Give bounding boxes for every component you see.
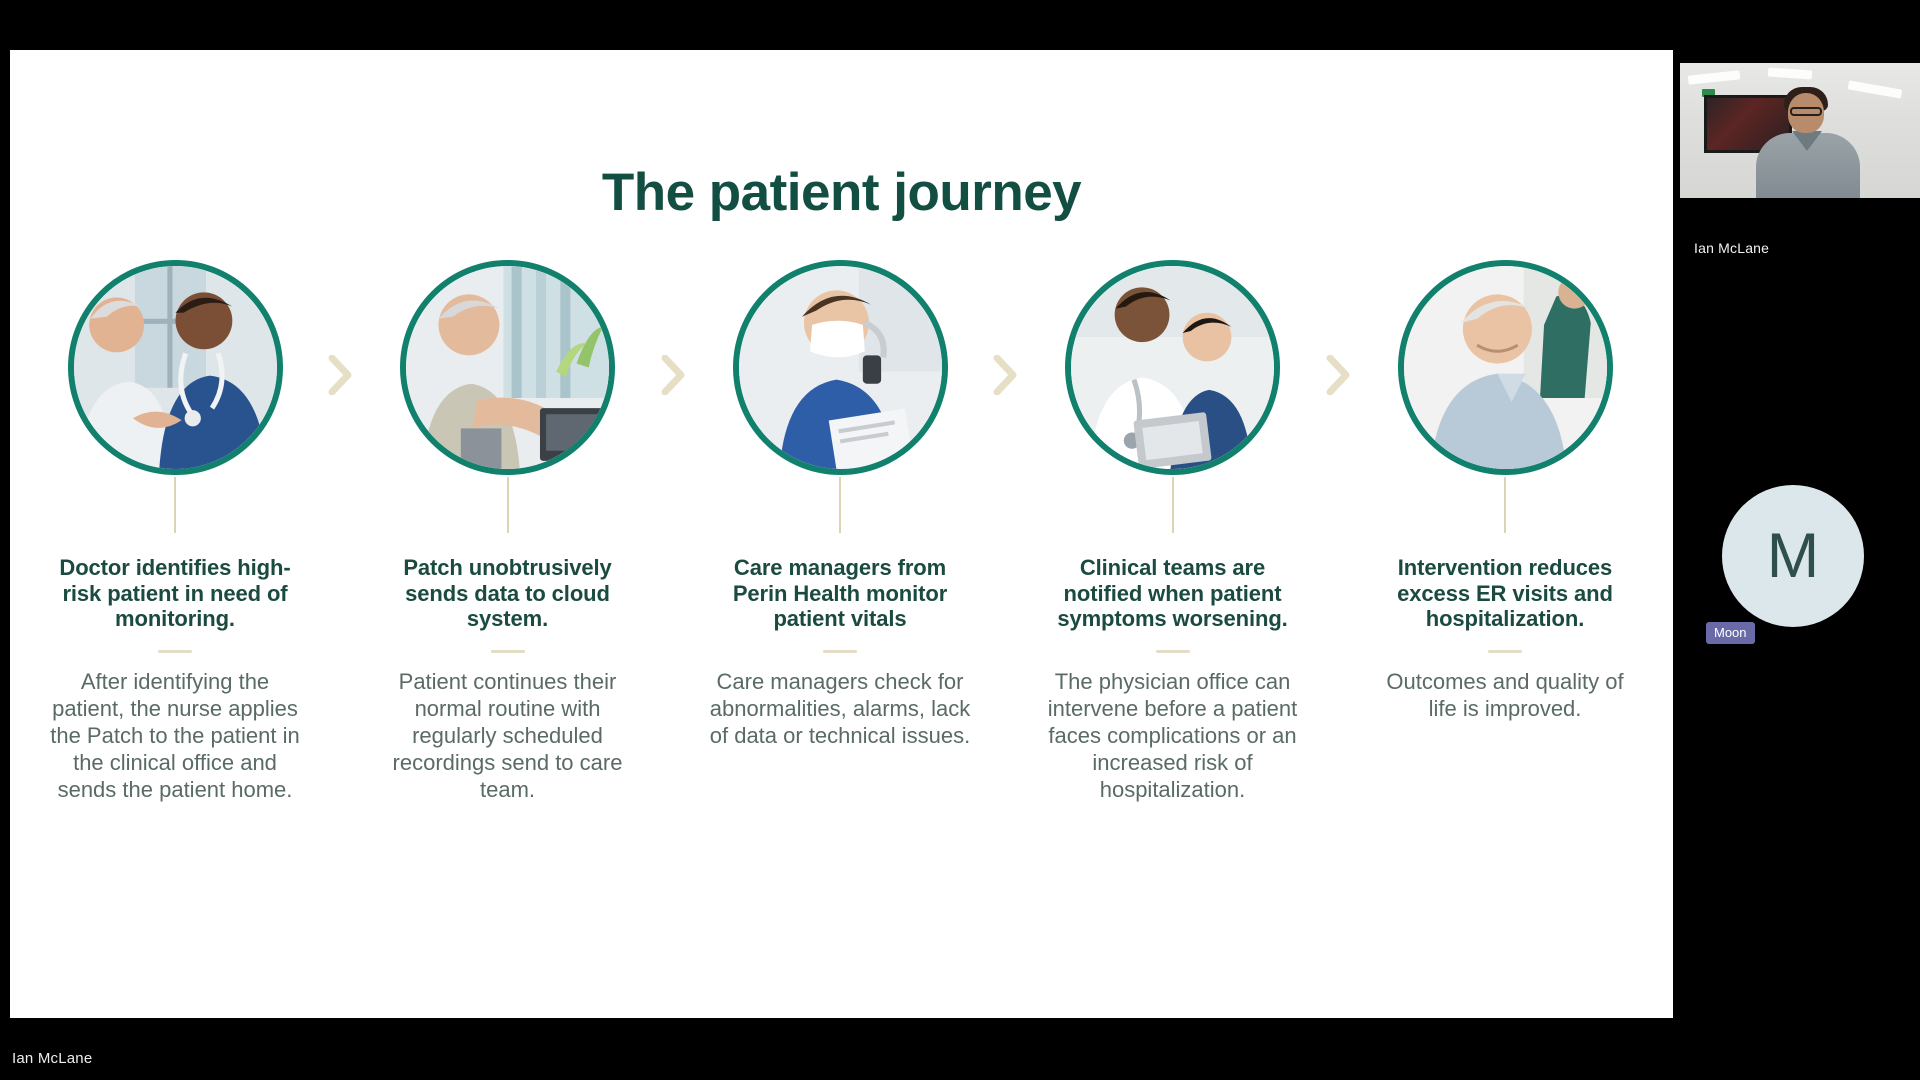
step-3-divider — [823, 650, 857, 653]
step-2-image-wrap — [400, 260, 615, 475]
step-4-body: The physician office can intervene befor… — [1042, 669, 1304, 803]
journey-step-3: Care managers from Perin Health monitor … — [705, 260, 975, 750]
step-4-photo — [1065, 260, 1280, 475]
participant-video-tile[interactable] — [1680, 63, 1920, 198]
step-1-image-wrap — [68, 260, 283, 475]
ceiling-light-icon — [1688, 70, 1741, 84]
happy-patient-illustration — [1404, 266, 1607, 469]
patient-at-home-illustration — [406, 266, 609, 469]
presentation-slide[interactable]: The patient journey — [10, 50, 1673, 1018]
doctor-patient-illustration — [74, 266, 277, 469]
participant-rail: Ian McLane M Moon — [1680, 0, 1920, 1080]
chevron-right-icon-2 — [661, 355, 687, 395]
step-2-connector — [507, 477, 509, 533]
step-5-photo — [1398, 260, 1613, 475]
chevron-right-icon-1 — [328, 355, 354, 395]
step-1-heading: Doctor identifies high-risk patient in n… — [45, 555, 305, 632]
avatar: M — [1722, 485, 1864, 627]
step-2-divider — [491, 650, 525, 653]
step-5-connector — [1504, 477, 1506, 533]
step-5-heading: Intervention reduces excess ER visits an… — [1375, 555, 1635, 632]
step-1-divider — [158, 650, 192, 653]
step-1-body: After identifying the patient, the nurse… — [44, 669, 306, 803]
journey-step-4: Clinical teams are notified when patient… — [1038, 260, 1308, 803]
step-4-connector — [1172, 477, 1174, 533]
ceiling-light-icon — [1768, 67, 1813, 79]
page-title: The patient journey — [10, 162, 1673, 223]
step-1-connector — [174, 477, 176, 533]
participant-name-badge-moon: Moon — [1706, 622, 1755, 644]
step-3-connector — [839, 477, 841, 533]
step-5-body: Outcomes and quality of life is improved… — [1374, 669, 1636, 723]
journey-step-2: Patch unobtrusively sends data to cloud … — [373, 260, 643, 803]
chevron-right-icon-3 — [993, 355, 1019, 395]
participant-avatar-tile[interactable]: M Moon — [1680, 485, 1920, 685]
step-4-image-wrap — [1065, 260, 1280, 475]
step-3-body: Care managers check for abnormalities, a… — [709, 669, 971, 749]
step-1-photo — [68, 260, 283, 475]
step-2-heading: Patch unobtrusively sends data to cloud … — [378, 555, 638, 632]
step-2-body: Patient continues their normal routine w… — [377, 669, 639, 803]
glasses-icon — [1790, 107, 1822, 116]
step-5-divider — [1488, 650, 1522, 653]
journey-step-1: Doctor identifies high-risk patient in n… — [40, 260, 310, 803]
screen-share-stage[interactable]: The patient journey — [0, 0, 1680, 1080]
step-3-image-wrap — [733, 260, 948, 475]
step-2-photo — [400, 260, 615, 475]
meeting-screen: The patient journey — [0, 0, 1920, 1080]
ceiling-light-icon — [1848, 80, 1903, 98]
step-3-heading: Care managers from Perin Health monitor … — [710, 555, 970, 632]
clinical-team-illustration — [1071, 266, 1274, 469]
step-5-image-wrap — [1398, 260, 1613, 475]
care-manager-illustration — [739, 266, 942, 469]
chevron-right-icon-4 — [1326, 355, 1352, 395]
participant-name-ian-mclane: Ian McLane — [1694, 240, 1769, 256]
journey-step-5: Intervention reduces excess ER visits an… — [1370, 260, 1640, 723]
webcam-feed — [1680, 63, 1920, 198]
patient-journey-row: Doctor identifies high-risk patient in n… — [40, 260, 1640, 960]
step-4-divider — [1156, 650, 1190, 653]
step-3-photo — [733, 260, 948, 475]
presenter-name-label: Ian McLane — [12, 1050, 92, 1067]
step-4-heading: Clinical teams are notified when patient… — [1043, 555, 1303, 632]
